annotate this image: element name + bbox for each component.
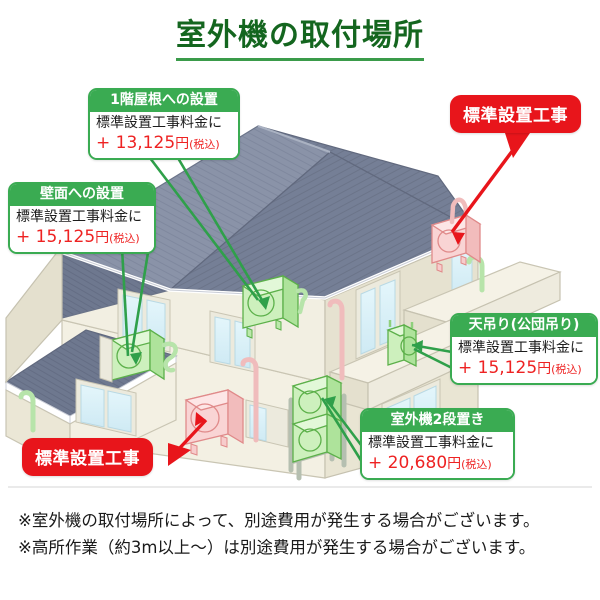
footnote-2: ※高所作業（約3m以上～）は別途費用が発生する場合がございます。 (18, 535, 593, 562)
label-ceiling-hang-amount: + 15,125 (458, 358, 537, 378)
label-ceiling-hang[interactable]: 天吊り(公団吊り) 標準設置工事料金に + 15,125円(税込) (450, 313, 598, 385)
label-ceiling-hang-tax: (税込) (551, 363, 582, 376)
label-two-tier-line1: 標準設置工事料金に (368, 435, 507, 452)
label-wall-mount-amount: + 15,125 (16, 227, 95, 247)
label-roof-1f[interactable]: 1階屋根への設置 標準設置工事料金に + 13,125円(税込) (88, 88, 240, 160)
diagram-canvas: 室外機の取付場所 (0, 0, 600, 600)
label-roof-1f-tax: (税込) (189, 138, 220, 151)
callout-ground-standard-text: 標準設置工事 (35, 449, 140, 469)
label-roof-1f-amount: + 13,125 (96, 133, 175, 153)
callout-balcony-standard[interactable]: 標準設置工事 (450, 95, 581, 133)
label-wall-mount-tax: (税込) (109, 232, 140, 245)
label-roof-1f-line1: 標準設置工事料金に (96, 115, 232, 132)
label-roof-1f-yen: 円 (175, 136, 189, 152)
label-two-tier-amount: + 20,680 (368, 453, 447, 473)
label-wall-mount-yen: 円 (95, 230, 109, 246)
label-ceiling-hang-line1: 標準設置工事料金に (458, 340, 590, 357)
footnote-1: ※室外機の取付場所によって、別途費用が発生する場合がございます。 (18, 508, 593, 535)
callout-ground-standard[interactable]: 標準設置工事 (22, 438, 153, 476)
label-roof-1f-header: 1階屋根への設置 (90, 90, 238, 112)
label-wall-mount-price: + 15,125円(税込) (16, 227, 148, 247)
label-two-tier-yen: 円 (447, 456, 461, 472)
label-ceiling-hang-price: + 15,125円(税込) (458, 358, 590, 378)
label-roof-1f-price: + 13,125円(税込) (96, 133, 232, 153)
label-two-tier-tax: (税込) (461, 458, 492, 471)
footnotes: ※室外機の取付場所によって、別途費用が発生する場合がございます。 ※高所作業（約… (18, 508, 593, 561)
label-two-tier-header: 室外機2段置き (362, 410, 513, 432)
label-two-tier[interactable]: 室外機2段置き 標準設置工事料金に + 20,680円(税込) (360, 408, 515, 480)
label-ceiling-hang-header: 天吊り(公団吊り) (452, 315, 596, 337)
callout-balcony-standard-text: 標準設置工事 (463, 106, 568, 126)
label-wall-mount[interactable]: 壁面への設置 標準設置工事料金に + 15,125円(税込) (8, 182, 156, 254)
label-wall-mount-header: 壁面への設置 (10, 184, 154, 206)
label-wall-mount-line1: 標準設置工事料金に (16, 209, 148, 226)
label-two-tier-price: + 20,680円(税込) (368, 453, 507, 473)
label-ceiling-hang-yen: 円 (537, 361, 551, 377)
